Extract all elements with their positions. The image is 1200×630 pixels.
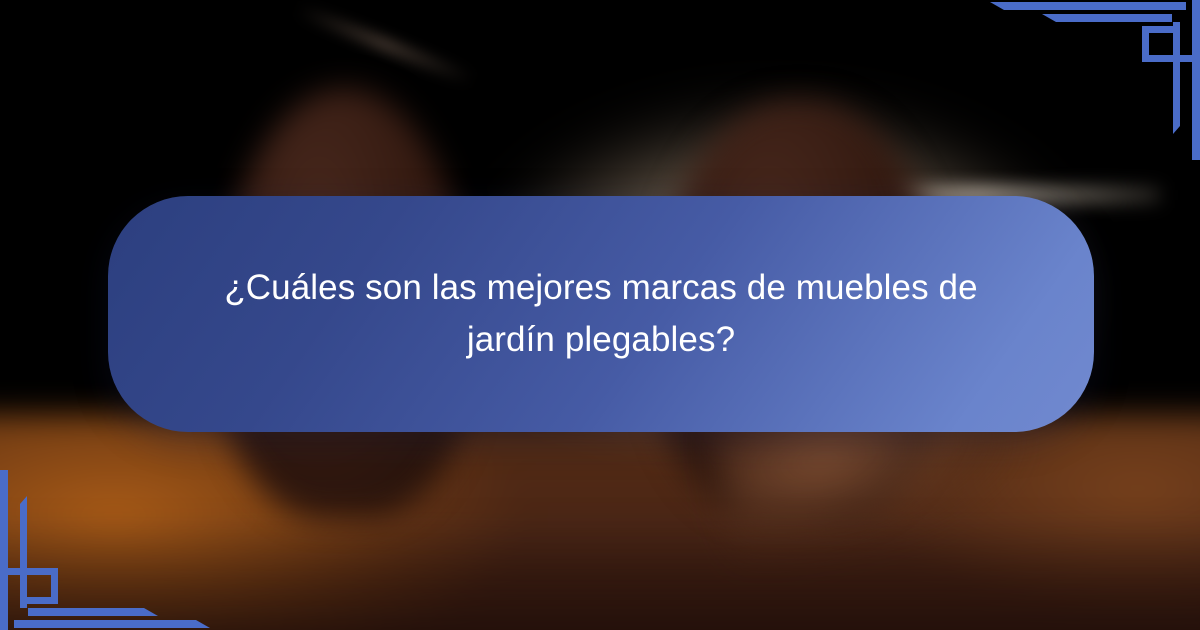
social-share-card: ¿Cuáles son las mejores marcas de mueble… [0, 0, 1200, 630]
question-text: ¿Cuáles son las mejores marcas de mueble… [181, 262, 1021, 366]
grass-layer [0, 514, 1200, 630]
question-card: ¿Cuáles son las mejores marcas de mueble… [108, 196, 1094, 432]
